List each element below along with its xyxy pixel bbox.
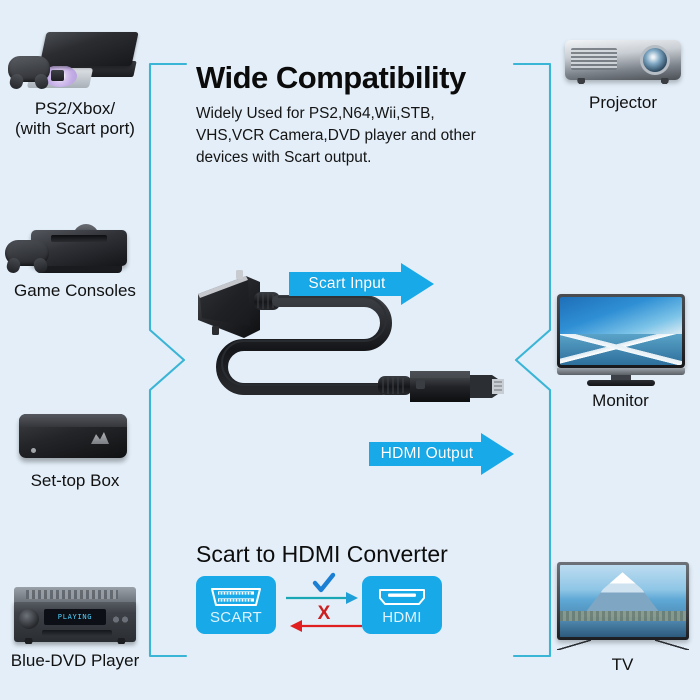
conversion-direction-diagram: X	[284, 572, 364, 639]
output-device-caption: Projector	[553, 93, 693, 113]
cross-icon: X	[318, 603, 331, 624]
source-device-blue-dvd-player: PLAYING Blue-DVD Player	[0, 578, 150, 671]
source-device-caption: Game Consoles	[0, 281, 150, 301]
game-console-icon	[5, 208, 145, 278]
output-device-projector: Projector	[553, 22, 693, 113]
set-top-box-icon	[5, 398, 145, 468]
output-device-caption: TV	[550, 655, 695, 675]
source-device-caption: Set-top Box	[0, 471, 150, 491]
dvd-display-text: PLAYING	[58, 613, 92, 621]
dvd-player-icon: PLAYING	[4, 578, 146, 648]
source-device-game-consoles: Game Consoles	[0, 208, 150, 301]
scart-connector-icon	[209, 585, 263, 609]
output-device-caption: Monitor	[548, 391, 693, 411]
game-console-ps2-icon	[5, 18, 145, 96]
monitor-icon	[551, 288, 691, 388]
source-device-caption: Blue-DVD Player	[0, 651, 150, 671]
infographic-canvas: Wide Compatibility Widely Used for PS2,N…	[0, 0, 700, 700]
hdmi-port-label: HDMI	[382, 610, 422, 625]
converter-title: Scart to HDMI Converter	[196, 541, 448, 568]
page-title: Wide Compatibility	[196, 60, 466, 96]
hdmi-connector-icon	[375, 585, 429, 609]
output-device-monitor: Monitor	[548, 288, 693, 411]
scart-port-card: SCART	[196, 576, 276, 634]
hdmi-output-callout: HDMI Output	[369, 433, 514, 475]
source-device-set-top-box: Set-top Box	[0, 398, 150, 491]
tv-icon	[553, 556, 693, 652]
output-device-tv: TV	[550, 556, 695, 675]
source-device-caption: PS2/Xbox/ (with Scart port)	[0, 99, 150, 139]
hdmi-port-card: HDMI	[362, 576, 442, 634]
scart-port-label: SCART	[210, 610, 262, 625]
check-icon	[315, 575, 333, 590]
projector-icon	[555, 22, 691, 90]
left-bracket	[140, 62, 188, 658]
scart-input-callout: Scart Input	[289, 263, 434, 305]
source-device-ps2-xbox: PS2/Xbox/ (with Scart port)	[0, 18, 150, 139]
page-subtitle: Widely Used for PS2,N64,Wii,STB, VHS,VCR…	[196, 103, 506, 169]
